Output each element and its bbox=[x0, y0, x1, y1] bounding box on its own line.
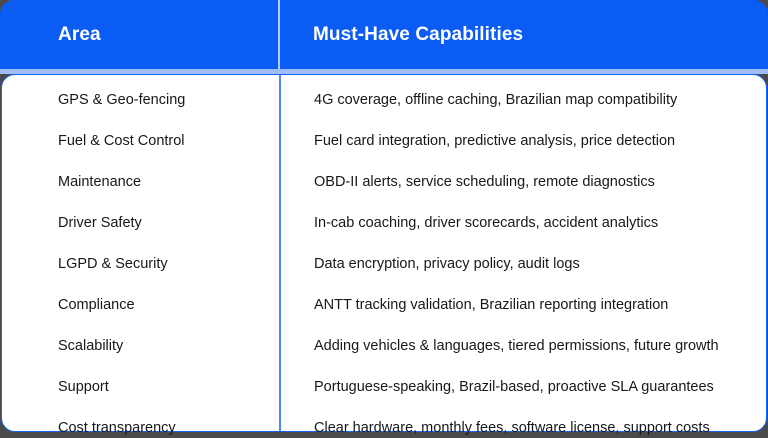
cell-capabilities: ANTT tracking validation, Brazilian repo… bbox=[314, 295, 668, 315]
table-row: LGPD & SecurityData encryption, privacy … bbox=[2, 254, 766, 274]
cell-capabilities: OBD-II alerts, service scheduling, remot… bbox=[314, 172, 655, 192]
cell-area: Driver Safety bbox=[58, 213, 142, 233]
header-column-divider bbox=[278, 0, 280, 69]
table-row: MaintenanceOBD-II alerts, service schedu… bbox=[2, 172, 766, 192]
table-row: ComplianceANTT tracking validation, Braz… bbox=[2, 295, 766, 315]
cell-capabilities: 4G coverage, offline caching, Brazilian … bbox=[314, 90, 677, 110]
table-row: Driver SafetyIn-cab coaching, driver sco… bbox=[2, 213, 766, 233]
table-row: ScalabilityAdding vehicles & languages, … bbox=[2, 336, 766, 356]
cell-area: Cost transparency bbox=[58, 418, 176, 438]
cell-area: LGPD & Security bbox=[58, 254, 168, 274]
table-body: GPS & Geo-fencing4G coverage, offline ca… bbox=[1, 74, 767, 432]
cell-capabilities: Adding vehicles & languages, tiered perm… bbox=[314, 336, 719, 356]
cell-area: Maintenance bbox=[58, 172, 141, 192]
cell-capabilities: Portuguese-speaking, Brazil-based, proac… bbox=[314, 377, 714, 397]
table-header-row: Area Must-Have Capabilities bbox=[0, 0, 768, 69]
cell-capabilities: Clear hardware, monthly fees, software l… bbox=[314, 418, 710, 438]
cell-area: GPS & Geo-fencing bbox=[58, 90, 185, 110]
cell-capabilities: Fuel card integration, predictive analys… bbox=[314, 131, 675, 151]
table-row: Cost transparencyClear hardware, monthly… bbox=[2, 418, 766, 438]
cell-area: Compliance bbox=[58, 295, 135, 315]
cell-area: Fuel & Cost Control bbox=[58, 131, 185, 151]
requirements-table: Area Must-Have Capabilities GPS & Geo-fe… bbox=[0, 0, 768, 433]
cell-capabilities: Data encryption, privacy policy, audit l… bbox=[314, 254, 580, 274]
column-header-area: Area bbox=[58, 24, 101, 46]
table-row: SupportPortuguese-speaking, Brazil-based… bbox=[2, 377, 766, 397]
table-row: GPS & Geo-fencing4G coverage, offline ca… bbox=[2, 90, 766, 110]
column-header-capabilities: Must-Have Capabilities bbox=[313, 24, 523, 46]
cell-area: Support bbox=[58, 377, 109, 397]
table-row: Fuel & Cost ControlFuel card integration… bbox=[2, 131, 766, 151]
cell-area: Scalability bbox=[58, 336, 123, 356]
cell-capabilities: In-cab coaching, driver scorecards, acci… bbox=[314, 213, 658, 233]
